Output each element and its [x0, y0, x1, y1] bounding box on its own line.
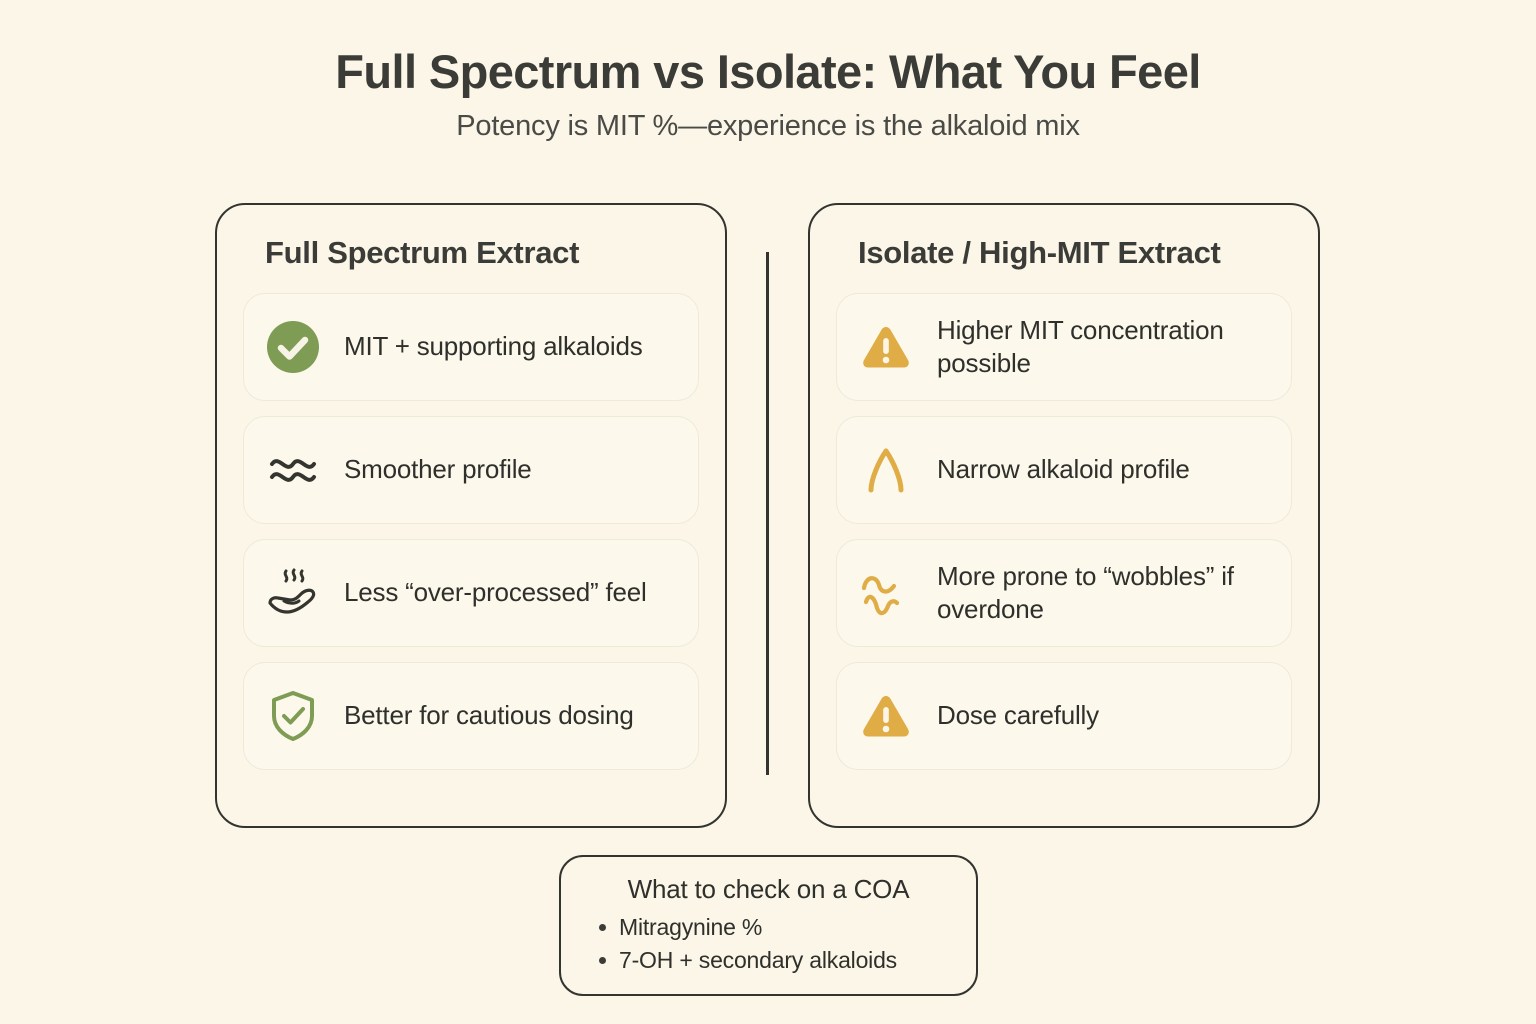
list-item-label: Better for cautious dosing — [344, 699, 634, 732]
list-item: 7-OH + secondary alkaloids — [619, 944, 950, 977]
list-item: Mitragynine % — [619, 911, 950, 944]
coa-list: Mitragynine % 7-OH + secondary alkaloids — [587, 911, 950, 976]
list-item-label: Less “over-processed” feel — [344, 576, 647, 609]
header: Full Spectrum vs Isolate: What You Feel … — [0, 46, 1536, 143]
list-item-label: MIT + supporting alkaloids — [344, 330, 643, 363]
wave-approx-icon — [262, 439, 324, 501]
card-title-full-spectrum: Full Spectrum Extract — [265, 235, 699, 271]
card-title-isolate: Isolate / High-MIT Extract — [858, 235, 1292, 271]
coa-checklist-box: What to check on a COA Mitragynine % 7-O… — [559, 855, 978, 996]
list-item: MIT + supporting alkaloids — [243, 293, 699, 401]
list-item: Better for cautious dosing — [243, 662, 699, 770]
list-item: Less “over-processed” feel — [243, 539, 699, 647]
narrow-peak-icon — [855, 439, 917, 501]
infographic-canvas: Full Spectrum vs Isolate: What You Feel … — [0, 0, 1536, 1024]
wobble-wave-icon — [855, 562, 917, 624]
page-subtitle: Potency is MIT %—experience is the alkal… — [0, 110, 1536, 143]
list-item: Narrow alkaloid profile — [836, 416, 1292, 524]
warning-triangle-icon — [855, 685, 917, 747]
feature-list-isolate: Higher MIT concentration possible Narrow… — [836, 293, 1292, 770]
check-circle-icon — [262, 316, 324, 378]
list-item: More prone to “wobbles” if overdone — [836, 539, 1292, 647]
hand-steam-icon — [262, 562, 324, 624]
page-title: Full Spectrum vs Isolate: What You Feel — [0, 46, 1536, 99]
card-isolate: Isolate / High-MIT Extract Higher MIT co… — [808, 203, 1320, 828]
shield-check-icon — [262, 685, 324, 747]
warning-triangle-icon — [855, 316, 917, 378]
list-item-label: More prone to “wobbles” if overdone — [937, 560, 1271, 627]
list-item-label: Smoother profile — [344, 453, 532, 486]
list-item-label: Dose carefully — [937, 699, 1099, 732]
list-item-label: Narrow alkaloid profile — [937, 453, 1190, 486]
list-item: Higher MIT concentration possible — [836, 293, 1292, 401]
coa-title: What to check on a COA — [587, 874, 950, 905]
card-full-spectrum: Full Spectrum Extract MIT + supporting a… — [215, 203, 727, 828]
list-item-label: Higher MIT concentration possible — [937, 314, 1271, 381]
column-divider — [766, 252, 769, 775]
feature-list-full-spectrum: MIT + supporting alkaloids Smoother prof… — [243, 293, 699, 770]
list-item: Smoother profile — [243, 416, 699, 524]
list-item: Dose carefully — [836, 662, 1292, 770]
